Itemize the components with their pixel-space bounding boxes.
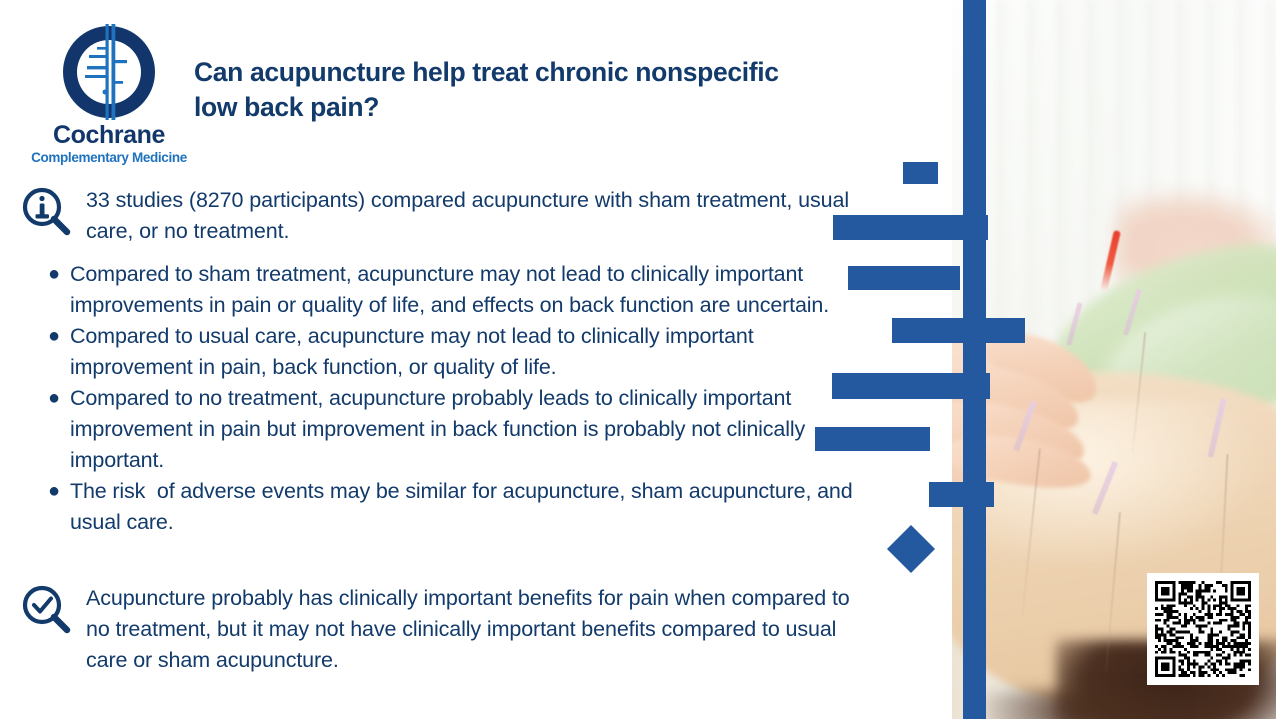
bullet-dot-icon: ● [48, 383, 70, 413]
magnifier-info-icon [20, 186, 72, 238]
finding-item: ●Compared to sham treatment, acupuncture… [48, 259, 858, 321]
findings-list: ●Compared to sham treatment, acupuncture… [48, 259, 858, 538]
finding-text: Compared to sham treatment, acupuncture … [70, 259, 858, 321]
bullet-dot-icon: ● [48, 321, 70, 351]
cochrane-logo-subtitle: Complementary Medicine [20, 151, 198, 166]
cochrane-logo-name: Cochrane [20, 123, 198, 148]
study-summary-row: 33 studies (8270 participants) compared … [20, 185, 850, 247]
forest-plot-bar [903, 162, 938, 184]
conclusion-row: Acupuncture probably has clinically impo… [20, 583, 870, 676]
finding-text: The risk of adverse events may be simila… [70, 476, 858, 538]
photo-patient-hair-secondary [982, 690, 1182, 719]
qr-code[interactable] [1147, 573, 1259, 685]
infographic-page: Cochrane Complementary Medicine Can acup… [0, 0, 1276, 719]
qr-code-canvas [1155, 581, 1251, 677]
finding-text: Compared to usual care, acupuncture may … [70, 321, 858, 383]
finding-item: ●Compared to no treatment, acupuncture p… [48, 383, 858, 476]
finding-item: ●Compared to usual care, acupuncture may… [48, 321, 858, 383]
study-summary-text: 33 studies (8270 participants) compared … [86, 185, 850, 247]
bullet-dot-icon: ● [48, 259, 70, 289]
conclusion-text: Acupuncture probably has clinically impo… [86, 583, 870, 676]
page-title: Can acupuncture help treat chronic nonsp… [194, 55, 804, 125]
bullet-dot-icon: ● [48, 476, 70, 506]
cochrane-logo-icon [59, 22, 159, 122]
finding-text: Compared to no treatment, acupuncture pr… [70, 383, 858, 476]
cochrane-logo: Cochrane Complementary Medicine [20, 22, 198, 172]
finding-item: ●The risk of adverse events may be simil… [48, 476, 858, 538]
magnifier-check-icon [20, 584, 72, 636]
acupuncture-treatment-photo [952, 0, 1276, 719]
content-column: Cochrane Complementary Medicine Can acup… [0, 0, 900, 719]
